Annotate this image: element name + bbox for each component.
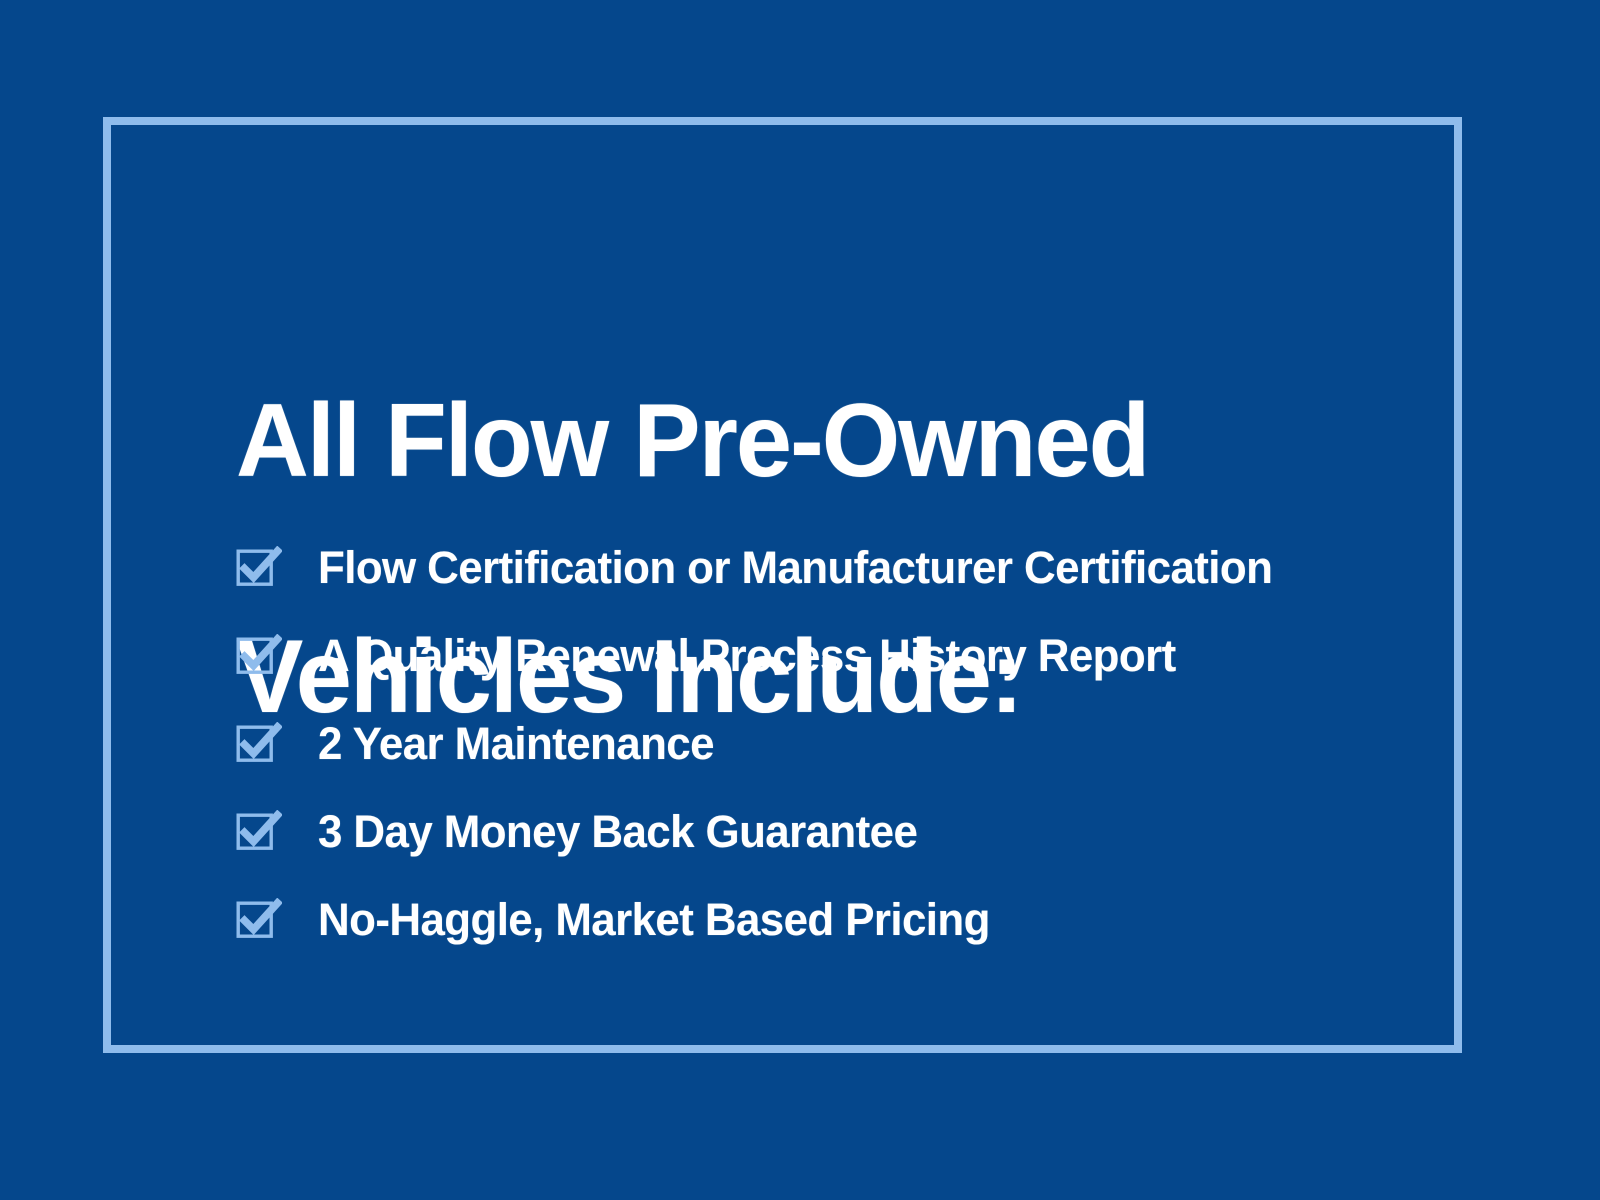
- list-item: A Quality Renewal Process History Report: [236, 612, 1436, 700]
- page-title-line-1: All Flow Pre-Owned: [236, 382, 1381, 500]
- list-item: Flow Certification or Manufacturer Certi…: [236, 524, 1436, 612]
- checked-checkbox-icon: [236, 634, 282, 678]
- benefits-list: Flow Certification or Manufacturer Certi…: [236, 524, 1436, 964]
- checked-checkbox-icon: [236, 898, 282, 942]
- list-item: 3 Day Money Back Guarantee: [236, 788, 1436, 876]
- list-item-label: Flow Certification or Manufacturer Certi…: [318, 543, 1272, 593]
- checked-checkbox-icon: [236, 722, 282, 766]
- list-item-label: 2 Year Maintenance: [318, 719, 714, 769]
- list-item: 2 Year Maintenance: [236, 700, 1436, 788]
- checked-checkbox-icon: [236, 546, 282, 590]
- list-item-label: 3 Day Money Back Guarantee: [318, 807, 917, 857]
- list-item: No-Haggle, Market Based Pricing: [236, 876, 1436, 964]
- list-item-label: No-Haggle, Market Based Pricing: [318, 895, 990, 945]
- checked-checkbox-icon: [236, 810, 282, 854]
- promo-card: All Flow Pre-Owned Vehicles Include: Flo…: [0, 0, 1600, 1200]
- list-item-label: A Quality Renewal Process History Report: [318, 631, 1176, 681]
